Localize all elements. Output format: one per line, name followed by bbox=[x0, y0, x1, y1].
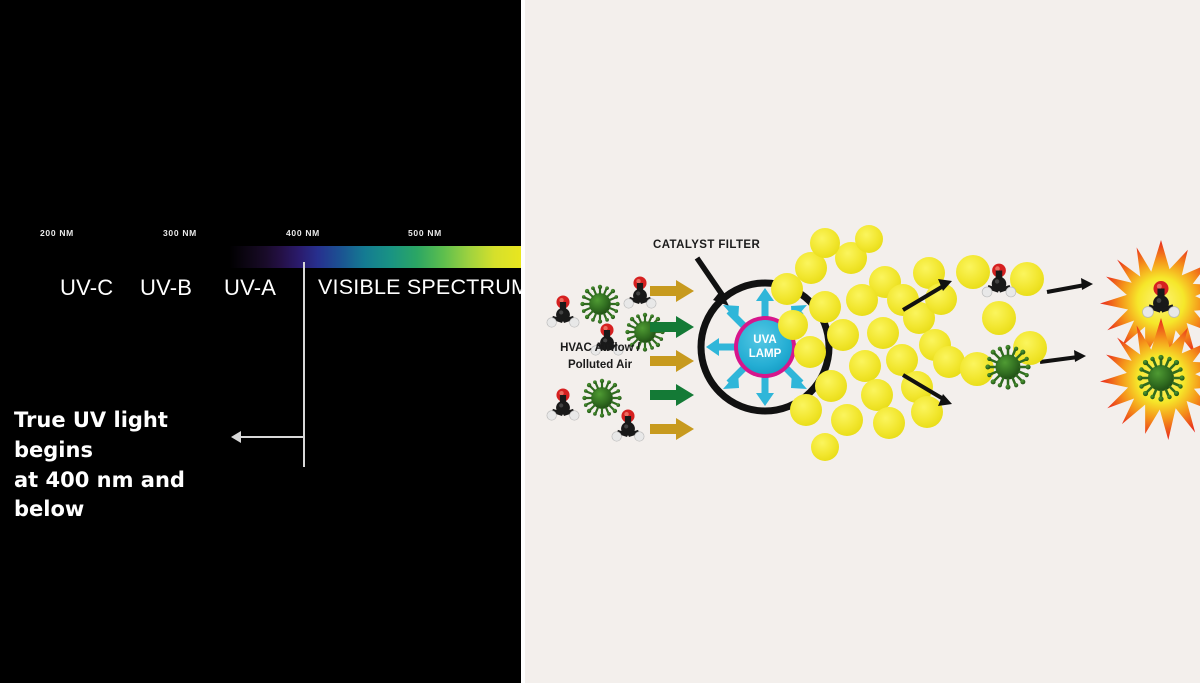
destruction-burst-lower bbox=[1100, 318, 1200, 440]
annotation-line-2: at 400 nm and below bbox=[14, 466, 244, 526]
catalyst-particle bbox=[956, 255, 990, 289]
band-label-uva: UV-A bbox=[224, 275, 276, 301]
black-arrow-upper bbox=[903, 279, 952, 310]
hvac-airflow-label: HVAC Airflow / Polluted Air bbox=[551, 340, 649, 373]
tick-label-500nm: 500 NM bbox=[408, 228, 442, 238]
molecule-icon bbox=[982, 264, 1016, 297]
hvac-airflow-line-2: Polluted Air bbox=[568, 359, 632, 371]
band-label-uvb: UV-B bbox=[140, 275, 192, 301]
virus-icon bbox=[1137, 355, 1184, 402]
uv-spectrum-panel: 200 NM 300 NM 400 NM 500 NM UV-C UV-B UV… bbox=[0, 0, 521, 683]
airflow-arrow-green bbox=[650, 316, 694, 338]
explosion-icon bbox=[1100, 318, 1200, 440]
airflow-arrow-green bbox=[650, 384, 694, 406]
catalyst-particle bbox=[1013, 331, 1047, 365]
uva-lamp-label-line-1: UVA bbox=[753, 334, 776, 346]
catalyst-filter-pointer-arrow bbox=[697, 258, 729, 306]
spectrum-gradient-bar bbox=[0, 246, 521, 268]
molecule-icon bbox=[547, 388, 579, 420]
catalyst-particles-group bbox=[771, 225, 965, 461]
molecule-icon bbox=[547, 295, 579, 327]
black-arrow-to-burst-lower bbox=[1040, 350, 1086, 362]
catalyst-particle bbox=[1010, 262, 1044, 296]
airflow-arrows-group bbox=[650, 280, 694, 440]
black-arrow-lower bbox=[903, 375, 952, 406]
hvac-airflow-line-1: HVAC Airflow / bbox=[560, 342, 640, 354]
molecule-icon bbox=[1143, 281, 1180, 317]
spectral-band-labels: UV-C UV-B UV-A VISIBLE SPECTRUM bbox=[0, 275, 521, 311]
annotation-arrow-shaft bbox=[237, 436, 303, 438]
molecule-icon bbox=[612, 409, 644, 441]
virus-icon bbox=[985, 345, 1030, 390]
oxidized-virus-group bbox=[960, 331, 1047, 390]
catalyst-particle bbox=[960, 352, 994, 386]
catalyst-particle bbox=[982, 301, 1016, 335]
virus-icon bbox=[580, 285, 619, 324]
tick-label-200nm: 200 NM bbox=[40, 228, 74, 238]
process-arrows-group bbox=[903, 278, 1093, 406]
band-label-uvc: UV-C bbox=[60, 275, 113, 301]
airflow-arrow-gold bbox=[650, 418, 694, 440]
wavelength-marker-line-400nm bbox=[303, 262, 305, 467]
wavelength-tick-row: 200 NM 300 NM 400 NM 500 NM bbox=[0, 228, 521, 244]
uva-lamp-label-line-2: LAMP bbox=[749, 348, 782, 360]
screenshot-root: 200 NM 300 NM 400 NM 500 NM UV-C UV-B UV… bbox=[0, 0, 1200, 683]
pco-diagram-panel: CATALYST FILTER HVAC Airflow / Polluted … bbox=[525, 0, 1200, 683]
tick-label-300nm: 300 NM bbox=[163, 228, 197, 238]
airflow-arrow-gold bbox=[650, 350, 694, 372]
band-label-visible-spectrum: VISIBLE SPECTRUM bbox=[318, 275, 529, 300]
oxidized-molecule-group bbox=[956, 255, 1044, 335]
virus-icon bbox=[582, 379, 621, 418]
explosion-icon bbox=[1100, 240, 1200, 362]
uva-lamp-label: UVA LAMP bbox=[747, 333, 783, 362]
catalyst-filter-label: CATALYST FILTER bbox=[653, 239, 760, 251]
uv-threshold-annotation: True UV light begins at 400 nm and below bbox=[14, 406, 244, 525]
molecule-icon bbox=[624, 276, 656, 308]
destruction-burst-upper bbox=[1100, 240, 1200, 362]
tick-label-400nm: 400 NM bbox=[286, 228, 320, 238]
airflow-arrow-gold bbox=[650, 280, 694, 302]
black-arrow-to-burst-upper bbox=[1047, 278, 1093, 292]
annotation-line-1: True UV light begins bbox=[14, 406, 244, 466]
